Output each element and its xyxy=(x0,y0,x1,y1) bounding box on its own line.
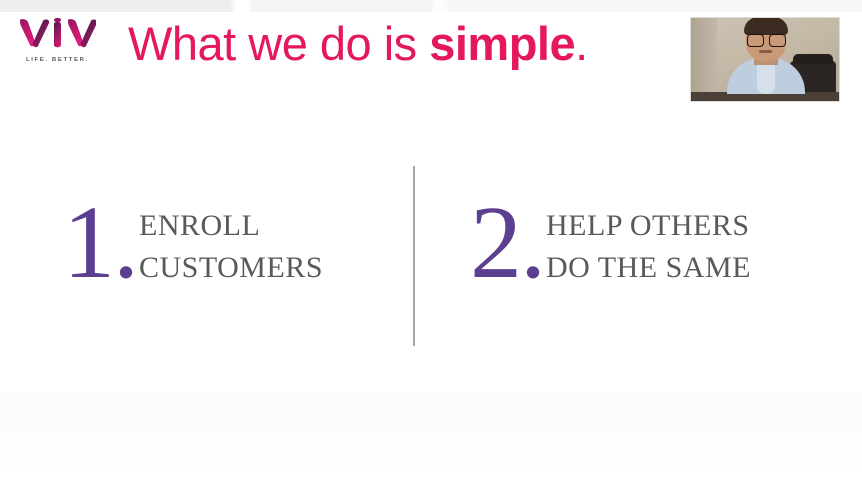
viv-wordmark-icon xyxy=(18,18,96,52)
title-emphasis: simple xyxy=(429,17,575,70)
bottom-artifact-area xyxy=(0,392,862,472)
presenter-hair xyxy=(744,18,788,35)
presenter-glasses-icon xyxy=(747,34,786,45)
step-label-2: HELP OTHERS DO THE SAME xyxy=(546,205,751,289)
logo-tagline: LIFE. BETTER. xyxy=(26,57,108,63)
step-label-2-line-1: HELP OTHERS xyxy=(546,205,751,247)
title-suffix: . xyxy=(575,17,588,70)
viv-logo: LIFE. BETTER. xyxy=(18,18,108,74)
step-item-1: 1. ENROLL CUSTOMERS xyxy=(63,205,323,289)
top-artifact-strip xyxy=(0,0,862,12)
presenter-mouth xyxy=(759,50,772,53)
step-number-1: 1. xyxy=(63,197,137,289)
presenter-video-thumbnail[interactable] xyxy=(691,18,839,101)
slide-title: What we do is simple. xyxy=(128,16,588,72)
step-label-2-line-2: DO THE SAME xyxy=(546,247,751,289)
title-prefix: What we do is xyxy=(128,17,429,70)
step-label-1: ENROLL CUSTOMERS xyxy=(139,205,323,289)
step-label-1-line-1: ENROLL xyxy=(139,205,323,247)
vertical-divider xyxy=(413,166,415,346)
video-background-shadow xyxy=(691,18,717,101)
step-item-2: 2. HELP OTHERS DO THE SAME xyxy=(470,205,751,289)
presentation-slide: LIFE. BETTER. What we do is simple. 1. E… xyxy=(0,0,862,485)
step-number-2: 2. xyxy=(470,197,544,289)
step-label-1-line-2: CUSTOMERS xyxy=(139,247,323,289)
